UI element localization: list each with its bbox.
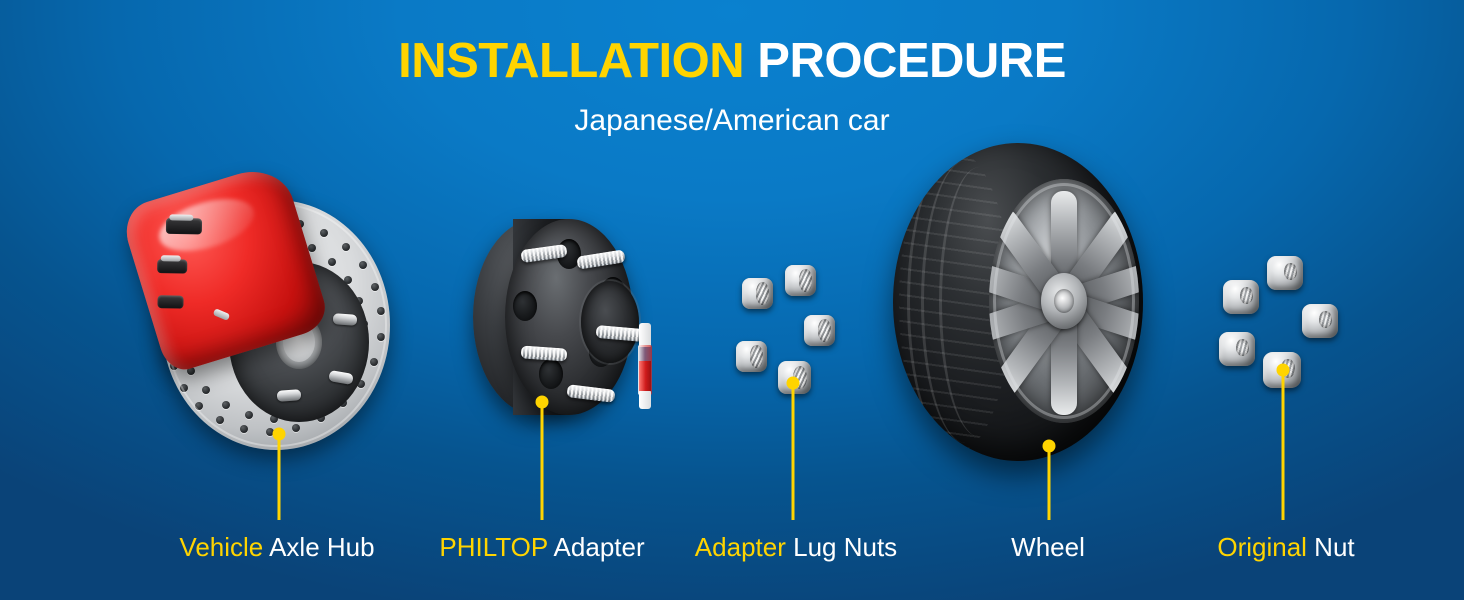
- title-plain: PROCEDURE: [757, 34, 1066, 88]
- rim-center-cap: [1041, 273, 1087, 329]
- lug-nut: [785, 265, 816, 296]
- leader-line-wheel: [1048, 446, 1051, 520]
- original-nuts-graphic: [1205, 250, 1335, 390]
- caption-highlight: Adapter: [695, 532, 786, 562]
- caption-philtop-adapter: PHILTOP Adapter: [439, 534, 644, 560]
- caption-plain: Nut: [1314, 532, 1354, 562]
- page-title: INSTALLATION PROCEDURE: [0, 36, 1464, 87]
- wheel-stud: [333, 313, 358, 326]
- caption-highlight: Original: [1217, 532, 1307, 562]
- leader-line-adapter-lug-nuts: [792, 383, 795, 520]
- installation-procedure-infographic: INSTALLATION PROCEDURE Japanese/American…: [0, 0, 1464, 600]
- leader-line-philtop-adapter: [541, 402, 544, 520]
- caption-adapter-lug-nuts: Adapter Lug Nuts: [695, 534, 897, 560]
- lug-nut: [736, 341, 767, 372]
- caption-plain: Adapter: [554, 532, 645, 562]
- tube-cap-bottom: [639, 391, 651, 409]
- caption-highlight: Vehicle: [179, 532, 263, 562]
- caption-highlight: PHILTOP: [439, 532, 547, 562]
- tube-cap-top: [639, 323, 651, 347]
- adapter-center-bore: [581, 281, 639, 363]
- caption-vehicle-axle-hub: Vehicle Axle Hub: [179, 534, 374, 560]
- alloy-rim: [989, 179, 1139, 423]
- caption-plain: Lug Nuts: [793, 532, 897, 562]
- leader-line-vehicle-axle-hub: [278, 434, 281, 520]
- lug-nut: [742, 278, 773, 309]
- adapter-bolt-hole: [513, 291, 537, 321]
- leader-line-original-nut: [1282, 370, 1285, 520]
- original-nut: [1302, 304, 1338, 338]
- adapter-lug-nuts-graphic: [730, 265, 840, 390]
- caption-plain: Axle Hub: [269, 532, 375, 562]
- lug-nut: [804, 315, 835, 346]
- page-subtitle: Japanese/American car: [0, 104, 1464, 138]
- wheel-stud: [277, 389, 302, 402]
- wheel-graphic: [893, 143, 1163, 463]
- title-highlight: INSTALLATION: [398, 34, 744, 88]
- adapter-bolt-hole: [539, 359, 563, 389]
- vehicle-axle-hub-graphic: [140, 182, 400, 462]
- original-nut: [1223, 280, 1259, 314]
- original-nut: [1219, 332, 1255, 366]
- threadlocker-tube: [637, 323, 653, 409]
- caption-original-nut: Original Nut: [1217, 534, 1354, 560]
- wheel-stud: [328, 370, 354, 385]
- tube-fluid: [639, 361, 651, 391]
- caption-plain: Wheel: [1011, 532, 1085, 562]
- caption-wheel: Wheel: [1011, 534, 1085, 560]
- philtop-adapter-graphic: [465, 215, 655, 435]
- original-nut: [1267, 256, 1303, 290]
- title-plain-spacer: [744, 34, 757, 88]
